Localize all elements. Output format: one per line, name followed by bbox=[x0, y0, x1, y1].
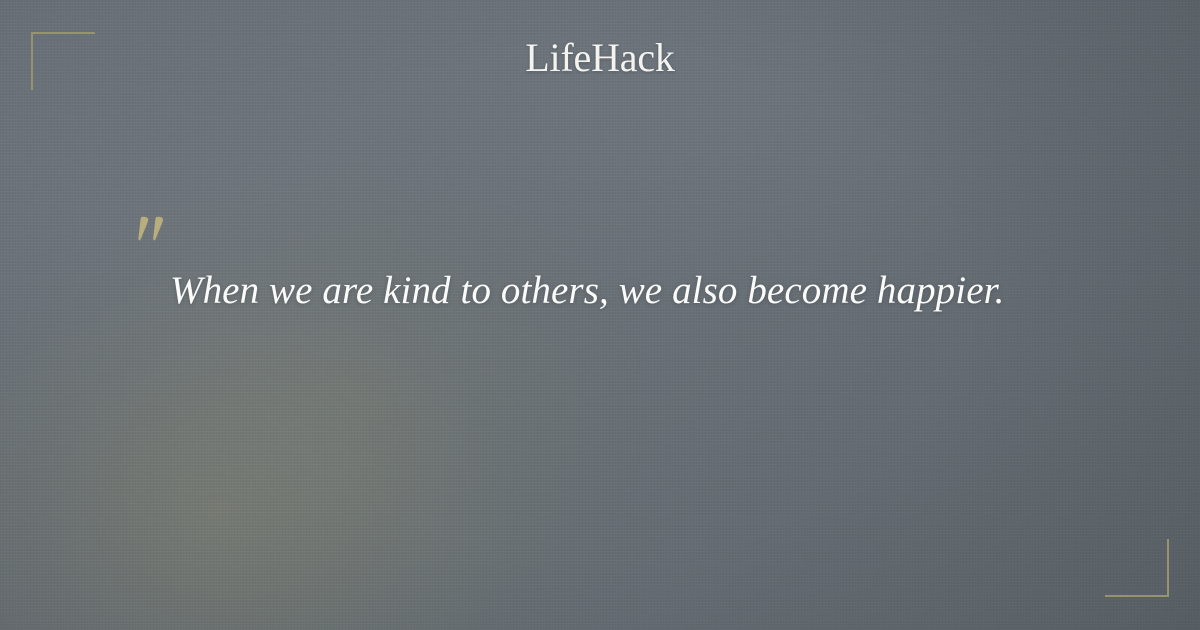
corner-bracket-bottom-right-icon bbox=[1105, 539, 1169, 597]
quote-text: When we are kind to others, we also beco… bbox=[134, 268, 1074, 314]
background-cool-glow bbox=[0, 0, 1200, 630]
quotation-mark-icon bbox=[135, 214, 175, 254]
bracket-horizontal-rule bbox=[31, 32, 95, 34]
background-warm-glow bbox=[0, 0, 1200, 630]
background-vignette bbox=[0, 0, 1200, 630]
bracket-horizontal-rule bbox=[1105, 595, 1169, 597]
lifehack-logo: LifeHack bbox=[0, 38, 1200, 78]
background-warm-glow-secondary bbox=[0, 0, 1200, 630]
bracket-vertical-rule bbox=[1167, 539, 1169, 597]
background-base-gradient bbox=[0, 0, 1200, 630]
quote-block: When we are kind to others, we also beco… bbox=[134, 214, 1074, 314]
background-left-glow bbox=[0, 0, 1200, 630]
quote-card: LifeHack When we are kind to others, we … bbox=[0, 0, 1200, 630]
background-grain-texture bbox=[0, 0, 1200, 630]
